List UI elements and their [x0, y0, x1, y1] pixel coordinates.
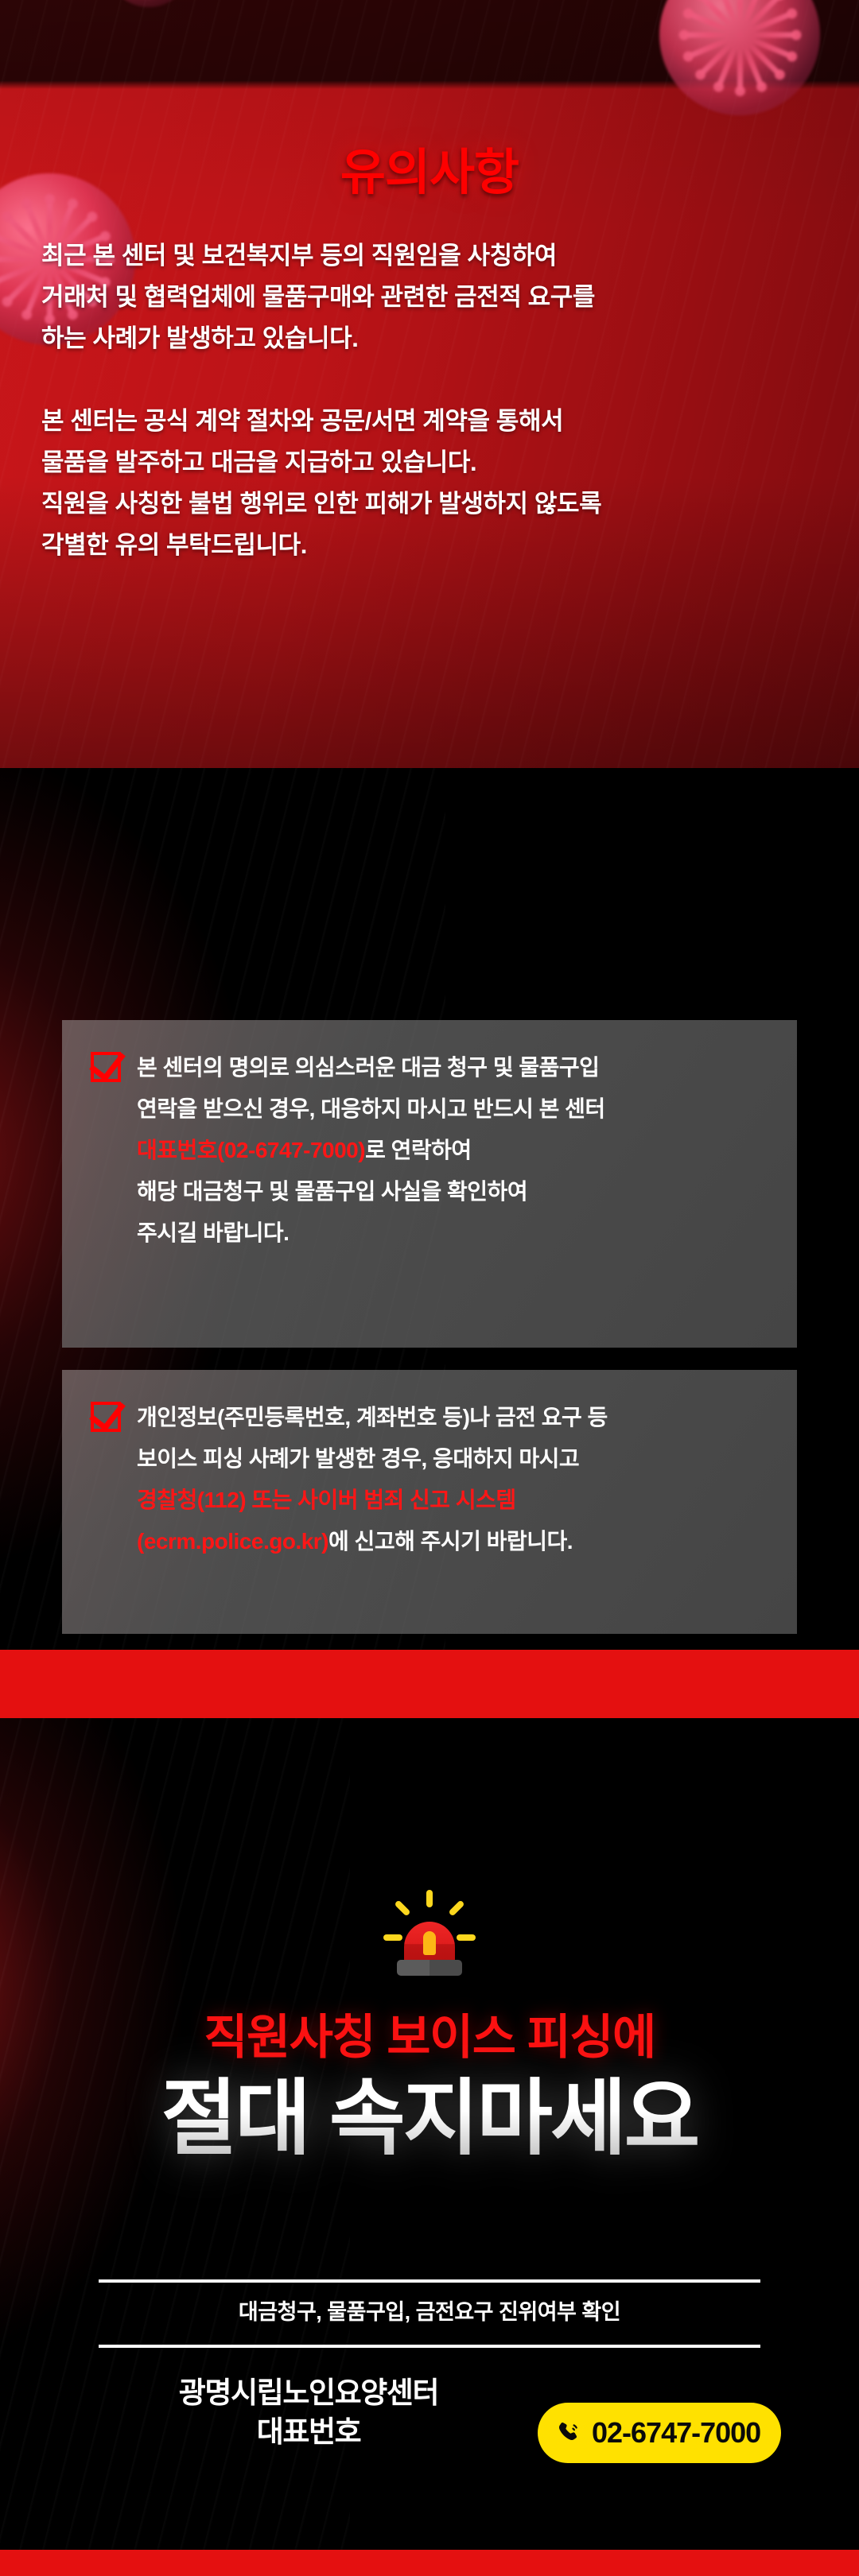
hero-paragraph1-line1: 최근 본 센터 및 보건복지부 등의 직원임을 사칭하여: [41, 235, 821, 277]
notice-title: 유의사항: [0, 132, 859, 204]
cta-tagline: 대금청구, 물품구입, 금전요구 진위여부 확인: [0, 2295, 859, 2326]
notice-phone-highlight: 대표번호(02-6747-7000): [137, 1138, 365, 1162]
divider-rule-bottom: [99, 2345, 760, 2348]
virus-graphic: [89, 0, 208, 24]
notice-line: 본 센터의 명의로 의심스러운 대금 청구 및 물품구입: [137, 1047, 605, 1088]
siren-ray: [448, 1899, 464, 1916]
virus-graphic: [628, 0, 851, 146]
notice-line: (ecrm.police.go.kr)에 신고해 주시기 바랍니다.: [137, 1521, 608, 1562]
siren-ray: [394, 1899, 410, 1916]
hero-paragraph1-line2: 거래처 및 협력업체에 물품구매와 관련한 금전적 요구를: [41, 277, 821, 318]
notice-line: 해당 대금청구 및 물품구입 사실을 확인하여: [137, 1171, 605, 1212]
organization-phone-label: 대표번호: [102, 2412, 515, 2451]
phone-number-button[interactable]: 02-6747-7000: [538, 2403, 781, 2463]
notice-box: 개인정보(주민등록번호, 계좌번호 등)나 금전 요구 등 보이스 피싱 사례가…: [62, 1370, 797, 1634]
cta-headline-small: 직원사칭 보이스 피싱에: [0, 1999, 859, 2068]
hero-paragraph2-line4: 각별한 유의 부탁드립니다.: [41, 525, 821, 566]
hero-paragraph1-line3: 하는 사례가 발생하고 있습니다.: [41, 318, 821, 359]
organization-block: 광명시립노인요양센터 대표번호: [102, 2373, 515, 2451]
notice-line: 보이스 피싱 사례가 발생한 경우, 응대하지 마시고: [137, 1438, 608, 1480]
notice-span: 보이스 피싱 사례가 발생한 경우, 응대하지 마시고: [137, 1446, 579, 1471]
siren-ray: [383, 1934, 402, 1941]
hero-copy: 최근 본 센터 및 보건복지부 등의 직원임을 사칭하여 거래처 및 협력업체에…: [41, 235, 821, 566]
notice-span: 에 신고해 주시기 바랍니다.: [328, 1529, 573, 1554]
hero-paragraph2-line1: 본 센터는 공식 계약 절차와 공문/서면 계약을 통해서: [41, 401, 821, 442]
notice-span: 로 연락하여: [365, 1138, 472, 1162]
divider-rule-top: [99, 2279, 760, 2283]
checkbox-checked-icon: [91, 1052, 121, 1082]
notice-text: 개인정보(주민등록번호, 계좌번호 등)나 금전 요구 등 보이스 피싱 사례가…: [137, 1397, 608, 1562]
phone-number-text: 02-6747-7000: [592, 2416, 760, 2450]
organization-name: 광명시립노인요양센터: [102, 2373, 515, 2412]
notice-span: 연락을 받으신 경우, 대응하지 마시고 반드시 본 센터: [137, 1096, 605, 1121]
emergency-siren-icon: [382, 1890, 477, 1985]
notice-span: 개인정보(주민등록번호, 계좌번호 등)나 금전 요구 등: [137, 1405, 608, 1430]
hero-section: 최근 본 센터 및 보건복지부 등의 직원임을 사칭하여 거래처 및 협력업체에…: [0, 0, 859, 768]
paragraph-spacer: [41, 359, 821, 401]
notice-span: 해당 대금청구 및 물품구입 사실을 확인하여: [137, 1179, 527, 1204]
notice-row: 개인정보(주민등록번호, 계좌번호 등)나 금전 요구 등 보이스 피싱 사례가…: [86, 1397, 770, 1562]
red-divider-band: [0, 1650, 859, 1718]
siren-lamp: [423, 1931, 436, 1955]
notice-text: 본 센터의 명의로 의심스러운 대금 청구 및 물품구입 연락을 받으신 경우,…: [137, 1047, 605, 1254]
notice-span: 본 센터의 명의로 의심스러운 대금 청구 및 물품구입: [137, 1055, 599, 1080]
bottom-red-band: [0, 2550, 859, 2576]
siren-ray: [457, 1934, 476, 1941]
checkbox-checked-icon: [91, 1402, 121, 1432]
hero-paragraph2-line3: 직원을 사칭한 불법 행위로 인한 피해가 발생하지 않도록: [41, 483, 821, 525]
notice-span: 주시길 바랍니다.: [137, 1220, 289, 1245]
notice-row: 본 센터의 명의로 의심스러운 대금 청구 및 물품구입 연락을 받으신 경우,…: [86, 1047, 770, 1254]
virus-core: [106, 0, 192, 7]
notice-line: 주시길 바랍니다.: [137, 1212, 605, 1254]
siren-base: [397, 1960, 462, 1976]
notice-box: 본 센터의 명의로 의심스러운 대금 청구 및 물품구입 연락을 받으신 경우,…: [62, 1020, 797, 1348]
notice-url-highlight: (ecrm.police.go.kr): [137, 1529, 328, 1554]
cta-headline-large: 절대 속지마세요: [0, 2069, 859, 2170]
notice-police-highlight: 경찰청(112) 또는 사이버 범죄 신고 시스템: [137, 1488, 516, 1512]
notice-line: 연락을 받으신 경우, 대응하지 마시고 반드시 본 센터: [137, 1088, 605, 1130]
notice-line: 대표번호(02-6747-7000)로 연락하여: [137, 1130, 605, 1171]
notice-line: 경찰청(112) 또는 사이버 범죄 신고 시스템: [137, 1480, 608, 1521]
notice-line: 개인정보(주민등록번호, 계좌번호 등)나 금전 요구 등: [137, 1397, 608, 1438]
hero-paragraph2-line2: 물품을 발주하고 대금을 지급하고 있습니다.: [41, 442, 821, 483]
siren-ray: [426, 1890, 433, 1907]
phone-call-icon: [555, 2419, 582, 2446]
